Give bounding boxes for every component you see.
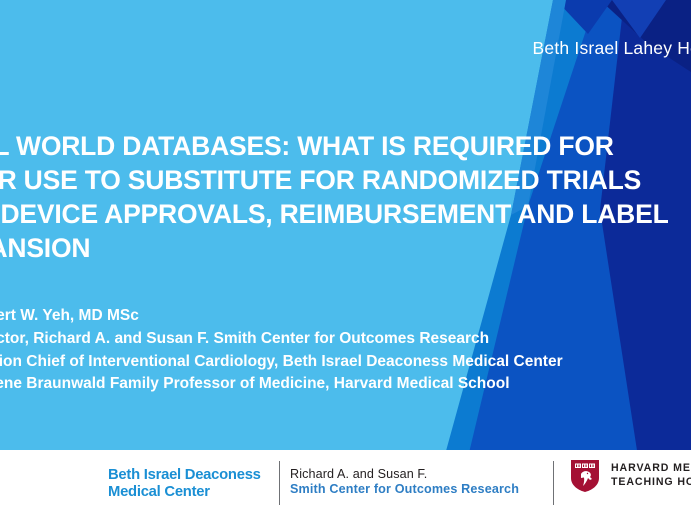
presentation-slide: Beth Israel Lahey Health REAL WORLD DATA…: [0, 0, 691, 532]
footer-divider-2: [553, 461, 554, 505]
title-line-1: REAL WORLD DATABASES: WHAT IS REQUIRED F…: [0, 129, 691, 163]
bide-logo: Beth Israel Deaconess Medical Center: [108, 467, 261, 500]
presenter-info: Robert W. Yeh, MD MSc Director, Richard …: [0, 305, 691, 396]
smith-center-logo: Richard A. and Susan F. Smith Center for…: [290, 467, 519, 497]
bide-logo-line-2: Medical Center: [108, 484, 261, 501]
footer-logo-bar: Beth Israel Deaconess Medical Center Ric…: [0, 450, 691, 532]
presenter-role-3: Eugene Braunwald Family Professor of Med…: [0, 373, 691, 396]
smith-logo-line-2: Smith Center for Outcomes Research: [290, 482, 519, 497]
title-line-4: EXPANSION: [0, 231, 691, 265]
header-brand: Beth Israel Lahey Health: [0, 39, 691, 58]
presenter-role-2: Section Chief of Interventional Cardiolo…: [0, 351, 691, 374]
presenter-role-1: Director, Richard A. and Susan F. Smith …: [0, 328, 691, 351]
bide-logo-line-1: Beth Israel Deaconess: [108, 467, 261, 484]
smith-logo-line-1: Richard A. and Susan F.: [290, 467, 519, 482]
slide-title: REAL WORLD DATABASES: WHAT IS REQUIRED F…: [0, 129, 691, 265]
harvard-logo-text: HARVARD MEDICAL SCHOOL TEACHING HOSPITAL: [611, 462, 691, 490]
presenter-name: Robert W. Yeh, MD MSc: [0, 305, 691, 328]
title-line-3: FOR DEVICE APPROVALS, REIMBURSEMENT AND …: [0, 197, 691, 231]
title-line-2: THEIR USE TO SUBSTITUTE FOR RANDOMIZED T…: [0, 163, 691, 197]
footer-divider-1: [279, 461, 280, 505]
harvard-shield-icon: [570, 459, 600, 493]
header-brand-label: Beth Israel Lahey Health: [533, 39, 691, 58]
harvard-logo-line-1: HARVARD MEDICAL SCHOOL: [611, 462, 691, 476]
harvard-logo-line-2: TEACHING HOSPITAL: [611, 476, 691, 490]
harvard-logo: HARVARD MEDICAL SCHOOL TEACHING HOSPITAL: [570, 459, 691, 493]
